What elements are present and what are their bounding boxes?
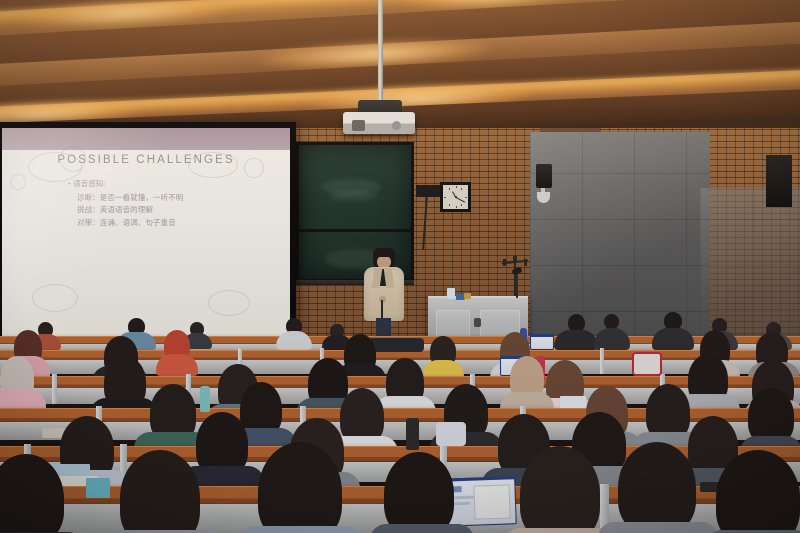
desk-leg [600, 348, 604, 374]
projector-pole [378, 0, 383, 104]
notebook [560, 396, 586, 408]
pouch [436, 422, 466, 446]
thermos-flask [406, 418, 419, 450]
slide-body: •语音感知: 诊断：是否一看就懂，一听不明 挑战：英语语音的理解 对策：连诵、语… [68, 178, 183, 229]
slide-title: POSSIBLE CHALLENGES [2, 154, 290, 166]
wall-speaker-left [536, 164, 552, 188]
wall-speaker-right [766, 155, 792, 207]
cup [447, 288, 455, 299]
desk-item-yellow [464, 293, 471, 299]
lecture-hall-photo: POSSIBLE CHALLENGES •语音感知: 诊断：是否一看就懂，一听不… [0, 0, 800, 533]
slide-top-band [2, 128, 290, 150]
presenter-fringe [373, 248, 395, 257]
projector-vent [392, 121, 401, 130]
water-bottle [200, 386, 210, 412]
slide-bullet-heading: 语音感知: [73, 179, 105, 188]
backpack [368, 338, 424, 352]
desk-leg [52, 374, 57, 404]
clock-face [443, 185, 468, 209]
handbag [632, 352, 662, 376]
slide-line-2: 挑战：英语语音的理解 [68, 204, 183, 217]
slide-line-3: 对策：连诵、语调、句子重音 [68, 217, 183, 230]
projector-lens-icon [352, 120, 365, 131]
wall-clock [440, 182, 471, 212]
slide-line-1: 诊断：是否一看就懂，一听不明 [68, 192, 183, 205]
audience-area [0, 300, 800, 533]
laptop [530, 334, 554, 350]
microphone-stand [516, 272, 518, 298]
clock-minute-hand [455, 197, 464, 203]
notebook [86, 478, 110, 498]
